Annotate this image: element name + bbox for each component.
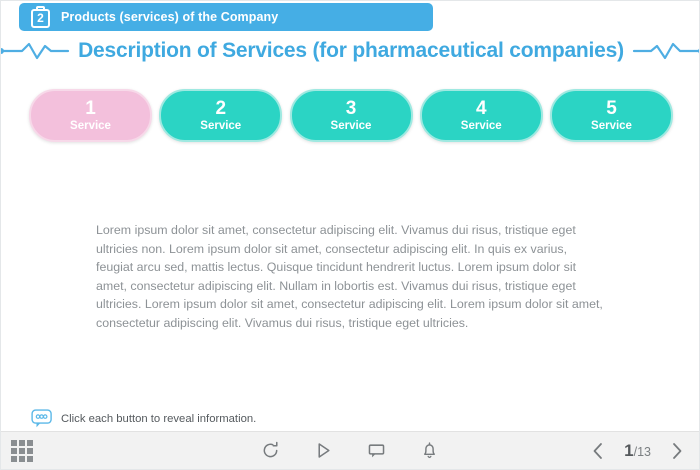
- service-button-number: 4: [476, 98, 487, 119]
- zigzag-pulse-left-icon: [0, 42, 70, 60]
- service-button-label: Service: [331, 119, 372, 133]
- service-button-label: Service: [70, 119, 111, 133]
- slide-canvas: 2 Products (services) of the Company Des…: [0, 0, 700, 470]
- service-button-4[interactable]: 4 Service: [420, 89, 543, 142]
- clipboard-number: 2: [31, 10, 50, 26]
- chevron-left-icon[interactable]: [590, 441, 606, 461]
- service-description-text: Lorem ipsum dolor sit amet, consectetur …: [96, 221, 606, 333]
- comment-icon[interactable]: [367, 441, 386, 460]
- toolbar-right-group: 1/13: [590, 441, 685, 461]
- slide-title-row: Description of Services (for pharmaceuti…: [1, 35, 700, 67]
- total-page-count: 13: [637, 445, 651, 459]
- service-button-2[interactable]: 2 Service: [159, 89, 282, 142]
- service-button-number: 1: [85, 98, 96, 119]
- service-button-label: Service: [591, 119, 632, 133]
- replay-icon[interactable]: [261, 441, 280, 460]
- service-button-5[interactable]: 5 Service: [550, 89, 673, 142]
- current-page-number: 1: [624, 441, 633, 460]
- bottom-toolbar: 1/13: [1, 431, 699, 469]
- page-title: Description of Services (for pharmaceuti…: [78, 39, 624, 63]
- hint-text: Click each button to reveal information.: [61, 413, 256, 425]
- service-button-3[interactable]: 3 Service: [290, 89, 413, 142]
- hint-row: Click each button to reveal information.: [31, 409, 256, 429]
- play-icon[interactable]: [314, 441, 333, 460]
- service-button-label: Service: [461, 119, 502, 133]
- chevron-right-icon[interactable]: [669, 441, 685, 461]
- page-indicator: 1/13: [624, 441, 651, 461]
- section-header-title: Products (services) of the Company: [61, 10, 278, 24]
- service-button-number: 3: [346, 98, 357, 119]
- service-button-number: 2: [215, 98, 226, 119]
- service-button-1[interactable]: 1 Service: [29, 89, 152, 142]
- zigzag-pulse-right-icon: [632, 42, 700, 60]
- speech-bubble-dots-icon: [31, 409, 53, 429]
- section-header-bar: 2 Products (services) of the Company: [19, 3, 433, 31]
- service-button-label: Service: [200, 119, 241, 133]
- service-button-number: 5: [606, 98, 617, 119]
- bell-icon[interactable]: [420, 441, 439, 460]
- service-buttons-row: 1 Service 2 Service 3 Service 4 Service …: [29, 89, 673, 142]
- clipboard-icon: 2: [31, 6, 50, 28]
